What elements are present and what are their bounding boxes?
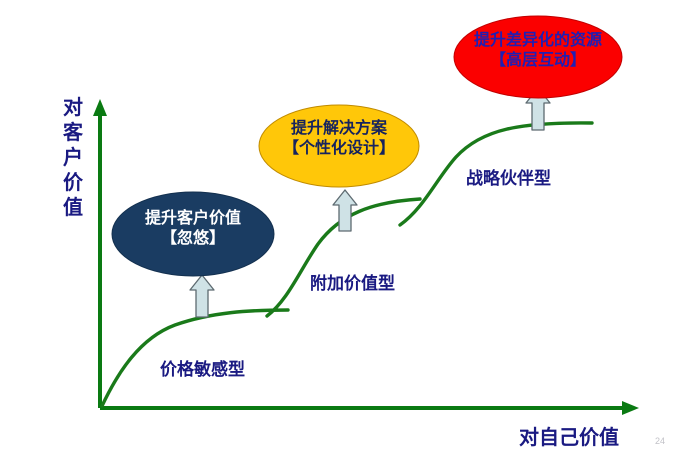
y-axis-char-4: 值 bbox=[58, 196, 88, 221]
tier-1-label: 价格敏感型 bbox=[160, 355, 245, 380]
callout-1-text: 提升客户价值 【忽悠】 bbox=[113, 209, 273, 249]
callout-2-text: 提升解决方案 【个性化设计】 bbox=[257, 119, 421, 159]
y-axis-label: 对 客 户 价 值 bbox=[58, 96, 88, 221]
callout-3-text: 提升差异化的资源 【高层互动】 bbox=[448, 31, 628, 71]
callout-1-line-1: 提升客户价值 bbox=[113, 209, 273, 229]
slide-canvas: 对 客 户 价 值 对自己价值 价格敏感型 附加价值型 战略伙伴型 提升客户价值… bbox=[0, 0, 690, 449]
callout-2-line-1: 提升解决方案 bbox=[257, 119, 421, 139]
y-axis-char-0: 对 bbox=[58, 96, 88, 121]
callout-1-line-2: 【忽悠】 bbox=[113, 229, 273, 249]
callout-arrow-1 bbox=[190, 275, 214, 317]
y-axis-char-2: 户 bbox=[58, 146, 88, 171]
tier-2-label: 附加价值型 bbox=[310, 269, 395, 294]
slide-number: 24 bbox=[655, 436, 665, 446]
x-axis-arrowhead bbox=[622, 401, 639, 415]
callout-3-line-1: 提升差异化的资源 bbox=[448, 31, 628, 51]
callout-2-line-2: 【个性化设计】 bbox=[257, 139, 421, 159]
y-axis-arrowhead bbox=[93, 99, 107, 116]
x-axis-label: 对自己价值 bbox=[519, 421, 619, 450]
tier-3-label: 战略伙伴型 bbox=[466, 164, 551, 189]
y-axis-char-3: 价 bbox=[58, 171, 88, 196]
y-axis-char-1: 客 bbox=[58, 121, 88, 146]
callout-3-line-2: 【高层互动】 bbox=[448, 51, 628, 71]
